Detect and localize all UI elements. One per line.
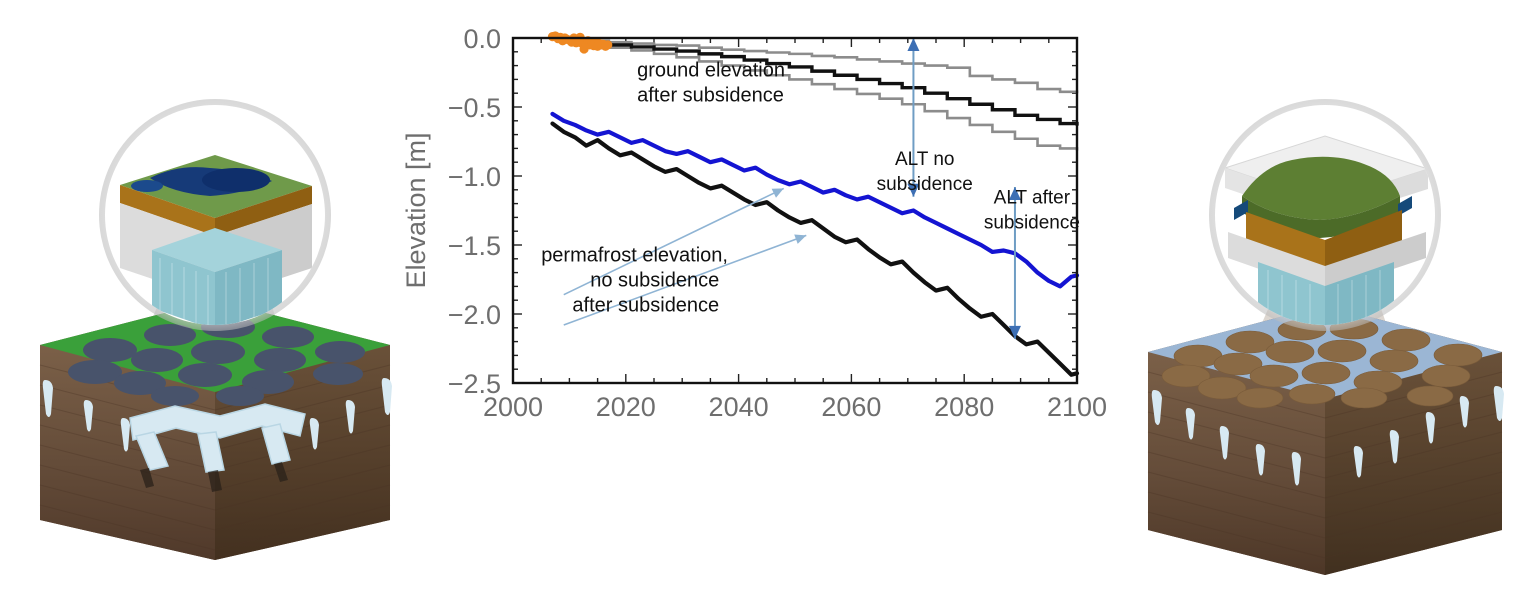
center-chart-panel: 2000202020402060208021000.0−0.5−1.0−1.5−…: [395, 0, 1115, 612]
y-tick-label: −2.0: [448, 300, 501, 330]
alt-after-subsidence-label-line: subsidence: [984, 213, 1080, 234]
permafrost-elevation-label-line: after subsidence: [572, 295, 719, 317]
permafrost-elevation-label-line: permafrost elevation,: [541, 245, 728, 267]
alt-no-subsidence-label-line: subsidence: [877, 174, 973, 195]
alt-after-subsidence-label-line: ALT after: [994, 188, 1071, 209]
ground-elevation-label-line: after subsidence: [637, 85, 784, 107]
y-tick-label: −1.5: [448, 231, 501, 261]
right-terrain-illustration: [1110, 0, 1536, 612]
x-tick-label: 2100: [1047, 392, 1107, 422]
permafrost-elevation-label-line: no subsidence: [590, 270, 719, 292]
y-tick-label: −1.0: [448, 162, 501, 192]
plot-area: [513, 38, 1077, 383]
elevation-timeseries-chart: 2000202020402060208021000.0−0.5−1.0−1.5−…: [395, 0, 1115, 612]
y-tick-label: 0.0: [463, 24, 501, 54]
left-terrain-panel: [0, 0, 430, 612]
alt-no-subsidence-label-line: ALT no: [895, 149, 955, 170]
figure-root: 2000202020402060208021000.0−0.5−1.0−1.5−…: [0, 0, 1536, 612]
x-tick-label: 2060: [821, 392, 881, 422]
right-terrain-panel: [1110, 0, 1536, 612]
x-tick-label: 2080: [934, 392, 994, 422]
y-tick-label: −2.5: [448, 369, 501, 399]
ground-elevation-label-line: ground elevation: [637, 60, 785, 82]
x-tick-label: 2020: [596, 392, 656, 422]
x-tick-label: 2040: [709, 392, 769, 422]
y-axis-title: Elevation [m]: [401, 132, 431, 288]
left-terrain-illustration: [0, 0, 430, 612]
observation-point: [603, 40, 612, 49]
y-tick-label: −0.5: [448, 93, 501, 123]
